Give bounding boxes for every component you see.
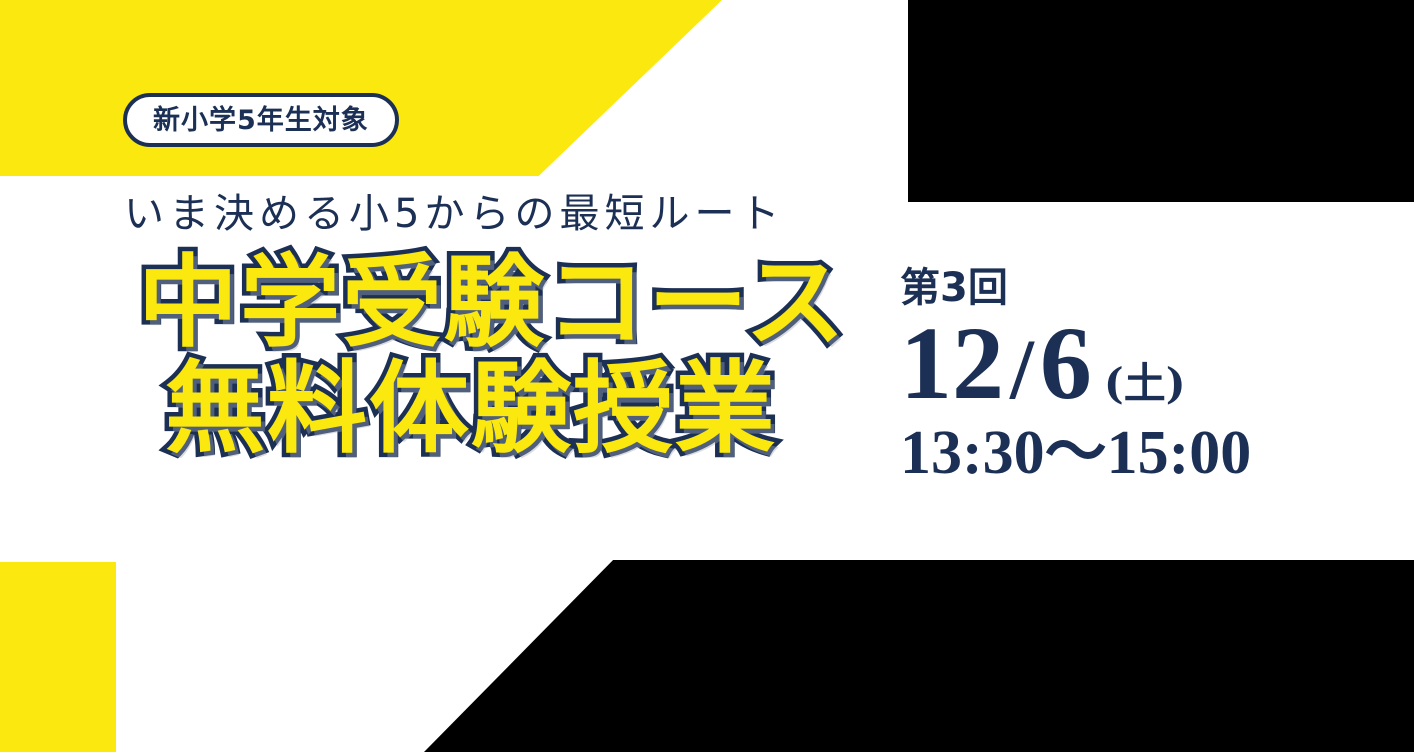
event-month: 12 xyxy=(900,312,1004,416)
headline-line-1: 中学受験コース xyxy=(138,250,900,356)
event-date-line: 12 / 6 (土) xyxy=(900,312,1251,416)
promo-banner: 新小学5年生対象 いま決める小5からの最短ルート 中学受験コース 無料体験授業 … xyxy=(0,0,1414,752)
headline-line-2: 無料体験授業 xyxy=(165,356,900,462)
session-number-label: 第3回 xyxy=(900,268,1251,308)
headline-group: 中学受験コース 無料体験授業 xyxy=(0,250,900,462)
banner-content: 新小学5年生対象 いま決める小5からの最短ルート 中学受験コース 無料体験授業 … xyxy=(0,0,1414,752)
audience-badge: 新小学5年生対象 xyxy=(123,93,399,147)
audience-badge-label: 新小学5年生対象 xyxy=(153,107,369,134)
event-time-range: 13:30〜15:00 xyxy=(900,422,1251,484)
event-date-block: 第3回 12 / 6 (土) 13:30〜15:00 xyxy=(900,268,1251,484)
headline-subtitle: いま決める小5からの最短ルート xyxy=(124,192,784,236)
event-day: 6 xyxy=(1040,312,1092,416)
event-weekday: (土) xyxy=(1104,363,1186,405)
date-separator: / xyxy=(1010,326,1034,412)
